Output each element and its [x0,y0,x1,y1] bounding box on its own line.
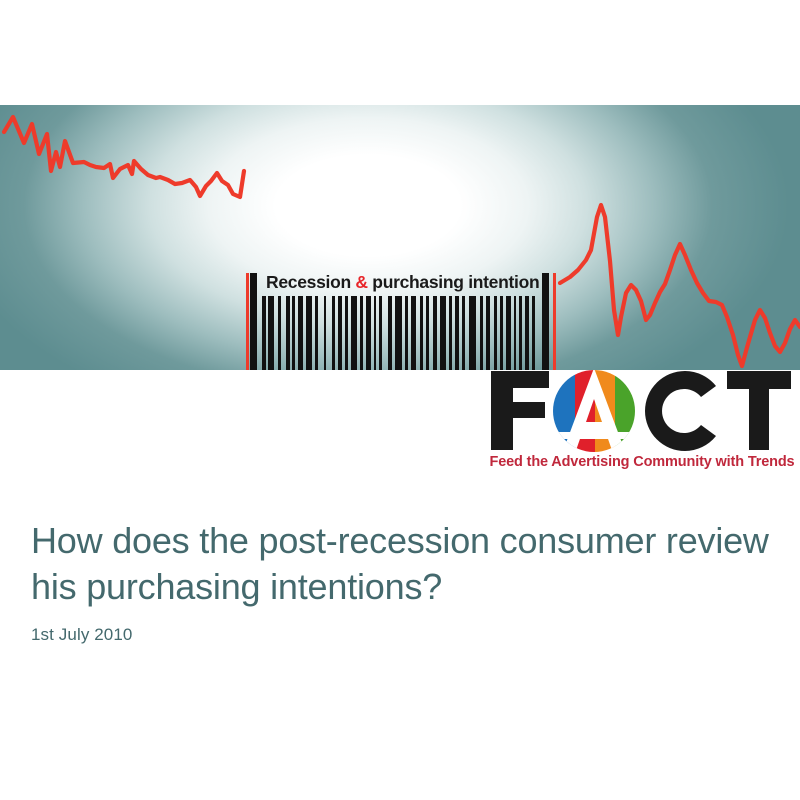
trend-line-left [4,117,244,197]
fact-logo-letter-f [491,371,549,450]
fact-logo-letter-c [645,371,716,451]
hero-banner: Recession & purchasing intention [0,105,800,370]
fact-logo-letter-a [553,368,637,454]
barcode-label-prefix: Recession [266,272,355,292]
barcode-label-suffix: purchasing intention [368,272,540,292]
fact-logo-mark [487,366,795,454]
fact-logo: Feed the Advertising Community with Tren… [487,366,795,478]
title-block: How does the post-recession consumer rev… [31,518,771,645]
page-title: How does the post-recession consumer rev… [31,518,771,610]
trend-line-right [560,205,800,366]
fact-logo-tagline: Feed the Advertising Community with Tren… [489,454,795,470]
barcode-label-ampersand: & [355,272,367,292]
barcode-graphic: Recession & purchasing intention [246,268,560,370]
barcode-label: Recession & purchasing intention [266,270,542,294]
fact-logo-letter-t [727,371,791,450]
presentation-date: 1st July 2010 [31,625,771,645]
